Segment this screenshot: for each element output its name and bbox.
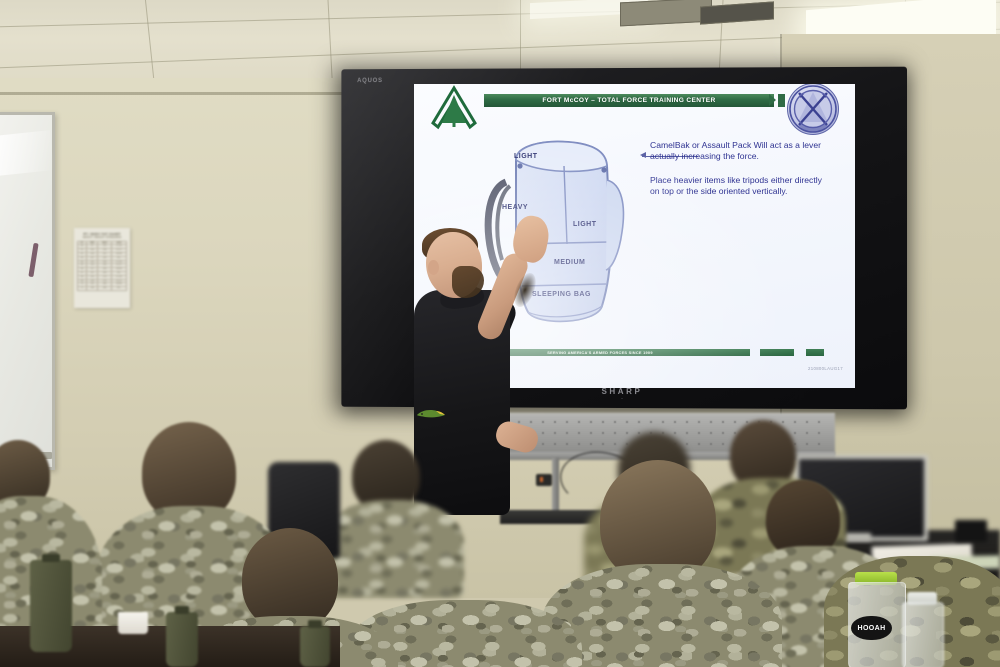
cart-perforation <box>614 432 616 434</box>
water-bottle[interactable] <box>902 592 942 667</box>
aquos-brand-label: AQUOS <box>357 78 383 84</box>
water-bottle[interactable]: HOOAH <box>848 572 904 667</box>
canteen-cap <box>308 620 321 628</box>
slide-body-text: CamelBak or Assault Pack Will act as a l… <box>650 140 825 210</box>
callout-arrow <box>640 152 646 158</box>
cart-perforation <box>650 421 652 423</box>
cart-perforation <box>686 421 688 423</box>
bottle-label: HOOAH <box>851 616 891 641</box>
cart-perforation <box>566 421 568 423</box>
wall-whiteboard <box>0 112 55 470</box>
display-logo-mark <box>616 398 628 405</box>
canteen-cap <box>175 606 189 614</box>
cart-perforation <box>722 443 724 445</box>
paper-cup[interactable] <box>118 612 148 634</box>
cart-perforation <box>806 432 808 434</box>
monitor-stand <box>845 533 871 541</box>
cart-perforation <box>626 432 628 434</box>
whiteboard-glare <box>0 130 54 176</box>
cart-perforation <box>578 421 580 423</box>
cart-perforation <box>698 432 700 434</box>
canteen[interactable] <box>30 560 72 652</box>
poster-cell: 185 <box>98 287 111 291</box>
cart-perforation <box>794 432 796 434</box>
cart-perforation <box>590 421 592 423</box>
classroom-scene: PT / BODY FAT CHART HEIGHT / WEIGHT STAN… <box>0 0 1000 667</box>
footer-accent-segment <box>760 349 794 356</box>
cart-perforation <box>710 443 712 445</box>
footer-accent-segment <box>806 349 824 356</box>
cart-perforation <box>818 432 820 434</box>
cart-perforation <box>674 421 676 423</box>
cart-perforation <box>638 421 640 423</box>
cart-perforation <box>602 421 604 423</box>
cart-perforation <box>710 432 712 434</box>
cart-perforation <box>566 443 568 445</box>
poster-row: 7113618540+ <box>78 287 127 291</box>
slide-date-code: 210800LAUG17 <box>808 366 843 371</box>
cart-perforation <box>698 443 700 445</box>
cart-perforation <box>734 421 736 423</box>
cart-perforation <box>590 432 592 434</box>
cart-perforation <box>722 432 724 434</box>
whiteboard-marker[interactable] <box>28 243 38 277</box>
bottle-body <box>902 602 944 667</box>
cart-perforation <box>806 421 808 423</box>
poster-subtitle: HEIGHT / WEIGHT STANDARDS <box>77 236 127 240</box>
slide-paragraph-1: CamelBak or Assault Pack Will act as a l… <box>650 140 825 163</box>
cart-perforation <box>818 443 820 445</box>
equipment-box <box>955 520 987 542</box>
head <box>242 528 338 630</box>
cart-perforation <box>722 421 724 423</box>
slide-header-band: FORT McCOY – TOTAL FORCE TRAINING CENTER <box>484 94 774 107</box>
cart-perforation <box>686 432 688 434</box>
cart-perforation <box>698 421 700 423</box>
cart-perforation <box>578 432 580 434</box>
slide-header-accent <box>778 94 785 107</box>
crocodile-logo <box>416 406 446 419</box>
cart-perforation <box>614 443 616 445</box>
diagram-label-light-side: LIGHT <box>573 221 597 228</box>
wall-poster: PT / BODY FAT CHART HEIGHT / WEIGHT STAN… <box>74 228 130 308</box>
poster-cell: 40+ <box>111 287 126 291</box>
cart-perforation <box>626 421 628 423</box>
cart-perforation <box>662 421 664 423</box>
cart-perforation <box>566 432 568 434</box>
cart-perforation <box>674 432 676 434</box>
instructor <box>400 228 565 518</box>
diagram-label-light-top: LIGHT <box>514 153 538 160</box>
fort-mccoy-pine-tree-logo <box>430 85 478 131</box>
canteen[interactable] <box>300 626 330 667</box>
canteen[interactable] <box>166 612 198 667</box>
fort-mccoy-crossed-arrows-emblem <box>787 84 839 135</box>
cart-perforation <box>782 421 784 423</box>
poster-table: HTMINMAXAGE609713217-206110013621-276210… <box>77 241 127 291</box>
cart-perforation <box>602 443 604 445</box>
cart-perforation <box>818 421 820 423</box>
cart-perforation <box>794 421 796 423</box>
slide-header-title: FORT McCOY – TOTAL FORCE TRAINING CENTER <box>542 97 715 104</box>
cart-perforation <box>590 443 592 445</box>
cart-perforation <box>614 421 616 423</box>
cart-perforation <box>710 421 712 423</box>
cart-perforation <box>806 443 808 445</box>
cart-perforation <box>686 443 688 445</box>
cart-perforation <box>578 443 580 445</box>
cart-perforation <box>602 432 604 434</box>
bottle-brand-text: HOOAH <box>857 625 885 632</box>
poster-cell: 136 <box>86 287 97 291</box>
instructor-ear <box>428 260 439 275</box>
poster-cell: 71 <box>78 287 87 291</box>
slide-paragraph-2: Place heavier items like tripods either … <box>650 175 825 198</box>
canteen-cap <box>42 554 60 562</box>
diagram-label-heavy: HEAVY <box>502 204 528 211</box>
